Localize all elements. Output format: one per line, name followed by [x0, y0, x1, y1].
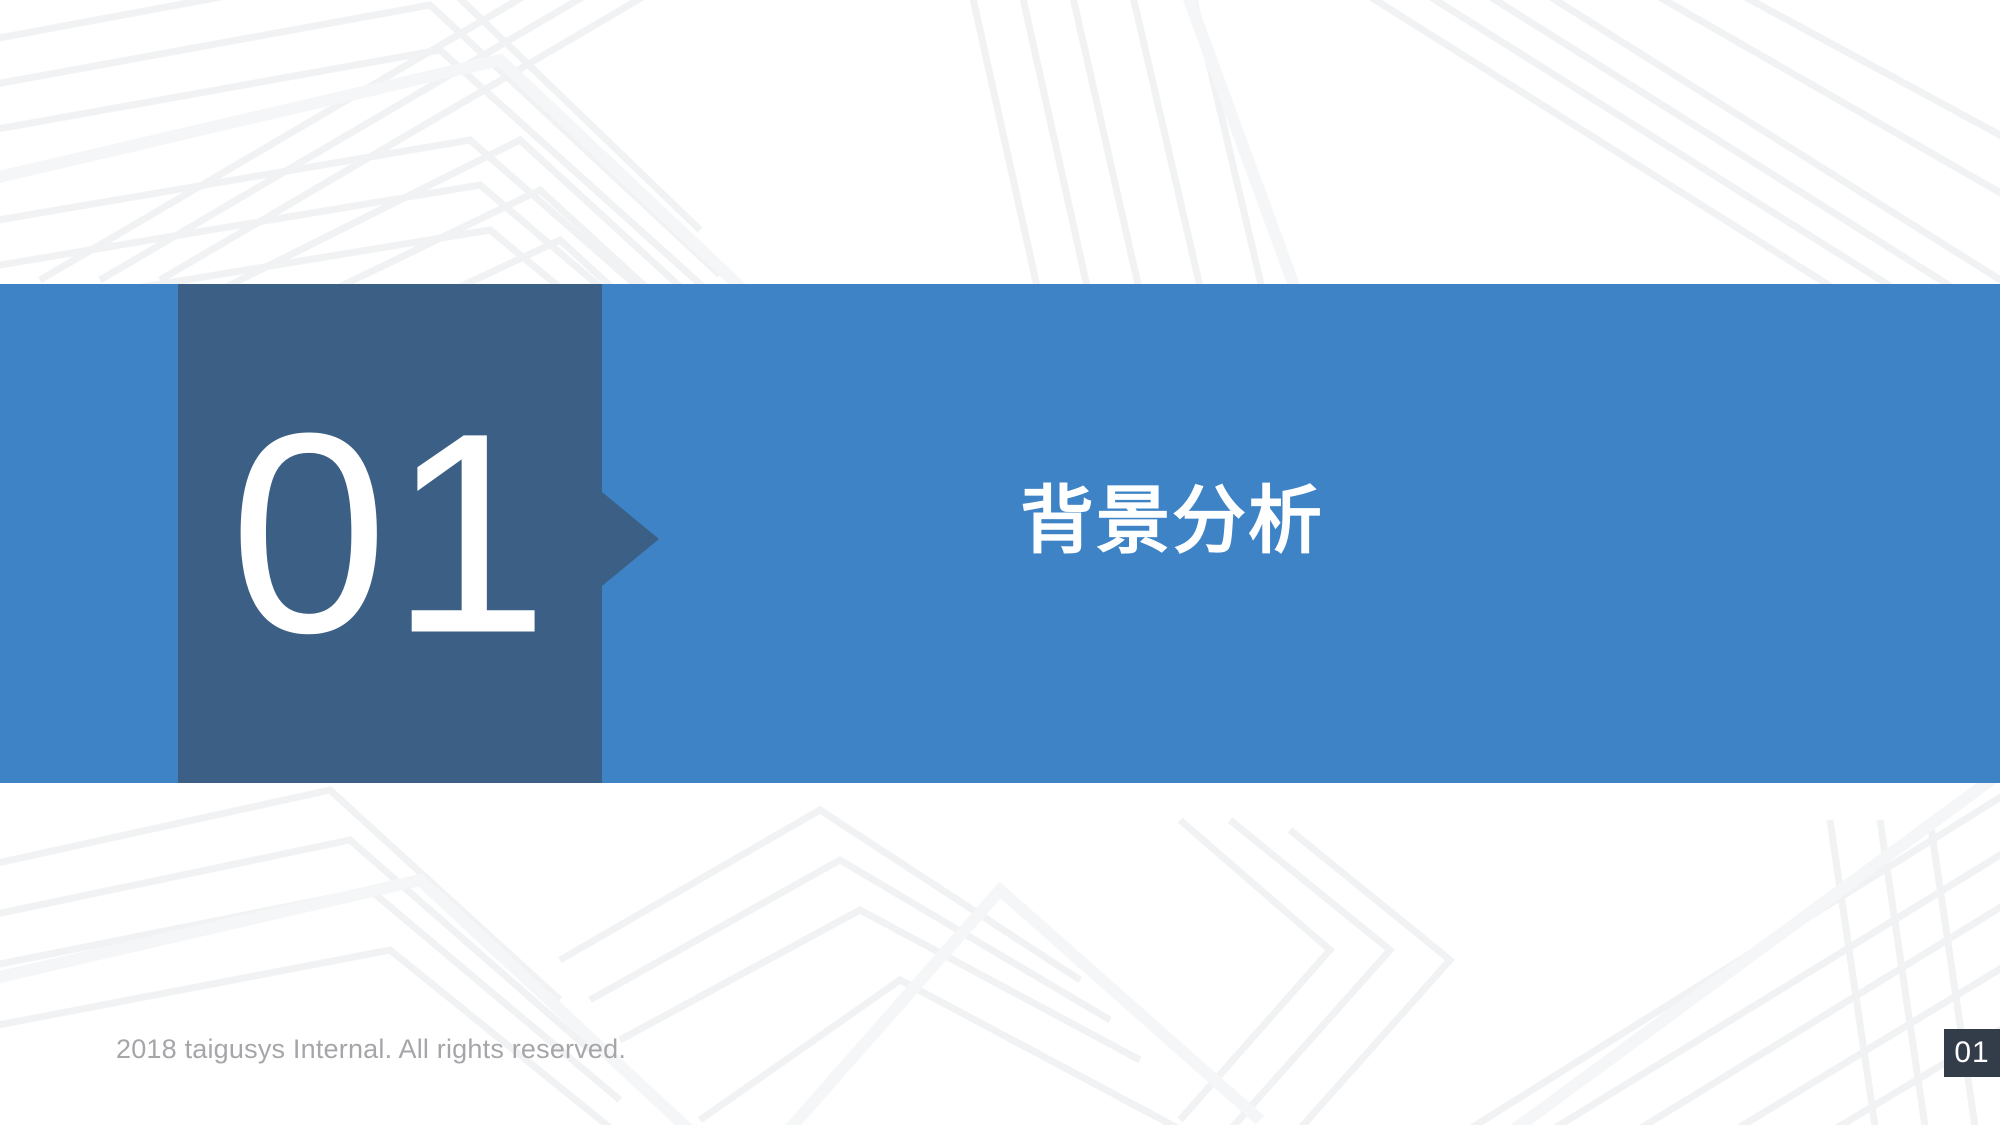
- footer-copyright: 2018 taigusys Internal. All rights reser…: [116, 1034, 626, 1065]
- page-title: 背景分析: [1020, 483, 1324, 561]
- chevron-right-icon: [602, 492, 659, 586]
- section-number-panel: 01: [178, 284, 602, 783]
- page-number-badge: 01: [1944, 1029, 2000, 1077]
- section-number: 01: [178, 391, 602, 676]
- slide-canvas: 01 背景分析 2018 taigusys Internal. All righ…: [0, 0, 2000, 1125]
